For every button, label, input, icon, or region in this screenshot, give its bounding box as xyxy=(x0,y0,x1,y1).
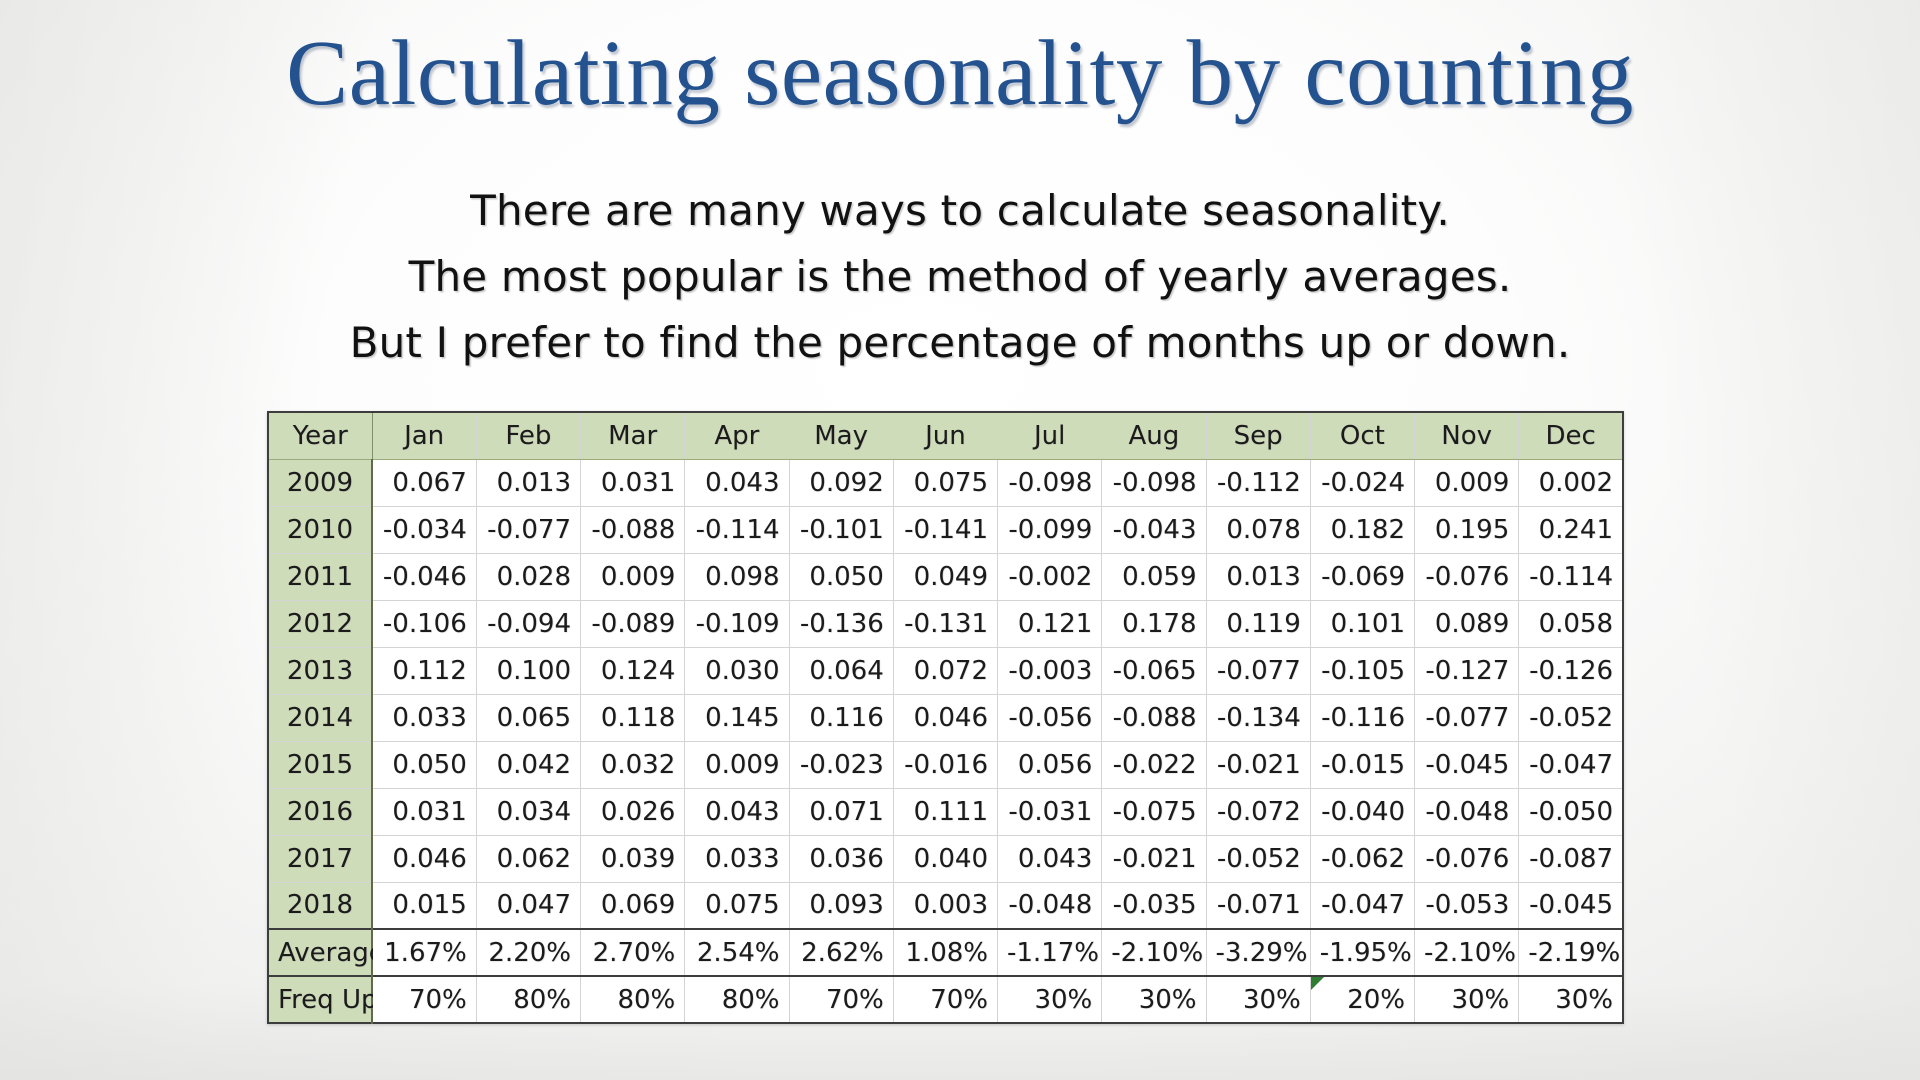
cell-2013-jul: -0.003 xyxy=(998,647,1102,694)
cell-2011-nov: -0.076 xyxy=(1415,553,1519,600)
cell-2014-may: 0.116 xyxy=(789,694,893,741)
cell-2009-nov: 0.009 xyxy=(1415,459,1519,506)
cell-2015-nov: -0.045 xyxy=(1415,741,1519,788)
cell-freq-up-jan: 70% xyxy=(372,976,476,1023)
cell-2018-aug: -0.035 xyxy=(1102,882,1206,929)
column-header-nov: Nov xyxy=(1415,412,1519,459)
cell-2015-mar: 0.032 xyxy=(581,741,685,788)
cell-freq-up-apr: 80% xyxy=(685,976,789,1023)
cell-2009-mar: 0.031 xyxy=(581,459,685,506)
cell-freq-up-jun: 70% xyxy=(893,976,997,1023)
cell-2012-aug: 0.178 xyxy=(1102,600,1206,647)
row-header-2012: 2012 xyxy=(268,600,372,647)
table-row: 2012-0.106-0.094-0.089-0.109-0.136-0.131… xyxy=(268,600,1623,647)
cell-2018-mar: 0.069 xyxy=(581,882,685,929)
cell-2012-mar: -0.089 xyxy=(581,600,685,647)
cell-2018-jun: 0.003 xyxy=(893,882,997,929)
cell-2017-sep: -0.052 xyxy=(1206,835,1310,882)
cell-2013-aug: -0.065 xyxy=(1102,647,1206,694)
cell-2016-dec: -0.050 xyxy=(1519,788,1623,835)
cell-2017-apr: 0.033 xyxy=(685,835,789,882)
cell-2015-aug: -0.022 xyxy=(1102,741,1206,788)
cell-freq-up-oct: 20% xyxy=(1310,976,1414,1023)
cell-2014-aug: -0.088 xyxy=(1102,694,1206,741)
cell-2012-nov: 0.089 xyxy=(1415,600,1519,647)
cell-freq-up-mar: 80% xyxy=(581,976,685,1023)
row-header-2010: 2010 xyxy=(268,506,372,553)
cell-average-aug: -2.10% xyxy=(1102,929,1206,976)
seasonality-table: Year Jan Feb Mar Apr May Jun Jul Aug Sep… xyxy=(267,411,1624,1024)
cell-2018-may: 0.093 xyxy=(789,882,893,929)
cell-2010-feb: -0.077 xyxy=(476,506,580,553)
cell-2011-mar: 0.009 xyxy=(581,553,685,600)
table-row: Average1.67%2.20%2.70%2.54%2.62%1.08%-1.… xyxy=(268,929,1623,976)
cell-2010-jan: -0.034 xyxy=(372,506,476,553)
cell-2015-jul: 0.056 xyxy=(998,741,1102,788)
seasonality-table-wrapper: Year Jan Feb Mar Apr May Jun Jul Aug Sep… xyxy=(267,411,1624,1024)
column-header-apr: Apr xyxy=(685,412,789,459)
cell-average-oct: -1.95% xyxy=(1310,929,1414,976)
column-header-feb: Feb xyxy=(476,412,580,459)
column-header-dec: Dec xyxy=(1519,412,1623,459)
cell-2018-dec: -0.045 xyxy=(1519,882,1623,929)
cell-2017-jul: 0.043 xyxy=(998,835,1102,882)
table-row: 20090.0670.0130.0310.0430.0920.075-0.098… xyxy=(268,459,1623,506)
cell-2018-jul: -0.048 xyxy=(998,882,1102,929)
table-header-row: Year Jan Feb Mar Apr May Jun Jul Aug Sep… xyxy=(268,412,1623,459)
cell-2012-may: -0.136 xyxy=(789,600,893,647)
cell-average-feb: 2.20% xyxy=(476,929,580,976)
cell-2015-apr: 0.009 xyxy=(685,741,789,788)
cell-average-jun: 1.08% xyxy=(893,929,997,976)
cell-2015-oct: -0.015 xyxy=(1310,741,1414,788)
column-header-jan: Jan xyxy=(372,412,476,459)
cell-2010-nov: 0.195 xyxy=(1415,506,1519,553)
row-header-2013: 2013 xyxy=(268,647,372,694)
cell-2012-jun: -0.131 xyxy=(893,600,997,647)
cell-2013-oct: -0.105 xyxy=(1310,647,1414,694)
cell-freq-up-jul: 30% xyxy=(998,976,1102,1023)
cell-2017-oct: -0.062 xyxy=(1310,835,1414,882)
cell-2012-dec: 0.058 xyxy=(1519,600,1623,647)
row-header-average: Average xyxy=(268,929,372,976)
cell-2014-feb: 0.065 xyxy=(476,694,580,741)
cell-average-sep: -3.29% xyxy=(1206,929,1310,976)
row-header-freq-up: Freq Up xyxy=(268,976,372,1023)
cell-average-apr: 2.54% xyxy=(685,929,789,976)
cell-2014-dec: -0.052 xyxy=(1519,694,1623,741)
cell-2015-sep: -0.021 xyxy=(1206,741,1310,788)
cell-2009-oct: -0.024 xyxy=(1310,459,1414,506)
page-title: Calculating seasonality by counting xyxy=(0,22,1920,126)
row-header-2016: 2016 xyxy=(268,788,372,835)
cell-2016-oct: -0.040 xyxy=(1310,788,1414,835)
cell-2014-mar: 0.118 xyxy=(581,694,685,741)
cell-2018-feb: 0.047 xyxy=(476,882,580,929)
cell-freq-up-nov: 30% xyxy=(1415,976,1519,1023)
cell-2012-oct: 0.101 xyxy=(1310,600,1414,647)
cell-2011-oct: -0.069 xyxy=(1310,553,1414,600)
cell-2013-jan: 0.112 xyxy=(372,647,476,694)
cell-2011-aug: 0.059 xyxy=(1102,553,1206,600)
cell-2011-feb: 0.028 xyxy=(476,553,580,600)
cell-2012-feb: -0.094 xyxy=(476,600,580,647)
cell-2009-may: 0.092 xyxy=(789,459,893,506)
cell-freq-up-aug: 30% xyxy=(1102,976,1206,1023)
cell-2017-may: 0.036 xyxy=(789,835,893,882)
cell-2016-aug: -0.075 xyxy=(1102,788,1206,835)
cell-2010-aug: -0.043 xyxy=(1102,506,1206,553)
table-row: 20150.0500.0420.0320.009-0.023-0.0160.05… xyxy=(268,741,1623,788)
cell-2014-jan: 0.033 xyxy=(372,694,476,741)
cell-2011-jun: 0.049 xyxy=(893,553,997,600)
column-header-may: May xyxy=(789,412,893,459)
table-row: 20130.1120.1000.1240.0300.0640.072-0.003… xyxy=(268,647,1623,694)
cell-2013-feb: 0.100 xyxy=(476,647,580,694)
subtitle-line-2: The most popular is the method of yearly… xyxy=(0,244,1920,310)
table-row: 20140.0330.0650.1180.1450.1160.046-0.056… xyxy=(268,694,1623,741)
cell-average-dec: -2.19% xyxy=(1519,929,1623,976)
column-header-aug: Aug xyxy=(1102,412,1206,459)
column-header-year: Year xyxy=(268,412,372,459)
table-body: 20090.0670.0130.0310.0430.0920.075-0.098… xyxy=(268,459,1623,1023)
cell-2011-may: 0.050 xyxy=(789,553,893,600)
cell-2016-may: 0.071 xyxy=(789,788,893,835)
cell-2012-jan: -0.106 xyxy=(372,600,476,647)
cell-2018-jan: 0.015 xyxy=(372,882,476,929)
cell-2017-mar: 0.039 xyxy=(581,835,685,882)
cell-2017-nov: -0.076 xyxy=(1415,835,1519,882)
cell-2014-sep: -0.134 xyxy=(1206,694,1310,741)
cell-freq-up-may: 70% xyxy=(789,976,893,1023)
subtitle-line-1: There are many ways to calculate seasona… xyxy=(0,178,1920,244)
cell-2012-jul: 0.121 xyxy=(998,600,1102,647)
cell-2010-sep: 0.078 xyxy=(1206,506,1310,553)
cell-2010-may: -0.101 xyxy=(789,506,893,553)
cell-average-jul: -1.17% xyxy=(998,929,1102,976)
cell-2016-feb: 0.034 xyxy=(476,788,580,835)
cell-2010-apr: -0.114 xyxy=(685,506,789,553)
column-header-sep: Sep xyxy=(1206,412,1310,459)
cell-2015-may: -0.023 xyxy=(789,741,893,788)
cell-2017-dec: -0.087 xyxy=(1519,835,1623,882)
cell-2009-jan: 0.067 xyxy=(372,459,476,506)
cell-2009-jun: 0.075 xyxy=(893,459,997,506)
cell-freq-up-sep: 30% xyxy=(1206,976,1310,1023)
cell-2010-jul: -0.099 xyxy=(998,506,1102,553)
table-header: Year Jan Feb Mar Apr May Jun Jul Aug Sep… xyxy=(268,412,1623,459)
column-header-jul: Jul xyxy=(998,412,1102,459)
cell-average-may: 2.62% xyxy=(789,929,893,976)
cell-2018-nov: -0.053 xyxy=(1415,882,1519,929)
slide-canvas: Calculating seasonality by counting Ther… xyxy=(0,0,1920,1080)
cell-2016-jun: 0.111 xyxy=(893,788,997,835)
cell-2017-aug: -0.021 xyxy=(1102,835,1206,882)
row-header-2009: 2009 xyxy=(268,459,372,506)
cell-average-jan: 1.67% xyxy=(372,929,476,976)
cell-2015-jan: 0.050 xyxy=(372,741,476,788)
row-header-2017: 2017 xyxy=(268,835,372,882)
cell-2016-jul: -0.031 xyxy=(998,788,1102,835)
column-header-mar: Mar xyxy=(581,412,685,459)
row-header-2015: 2015 xyxy=(268,741,372,788)
cell-2011-jan: -0.046 xyxy=(372,553,476,600)
cell-2016-sep: -0.072 xyxy=(1206,788,1310,835)
cell-2009-apr: 0.043 xyxy=(685,459,789,506)
cell-2016-apr: 0.043 xyxy=(685,788,789,835)
cell-2016-jan: 0.031 xyxy=(372,788,476,835)
row-header-2018: 2018 xyxy=(268,882,372,929)
cell-2015-dec: -0.047 xyxy=(1519,741,1623,788)
cell-2017-jan: 0.046 xyxy=(372,835,476,882)
table-row: 2010-0.034-0.077-0.088-0.114-0.101-0.141… xyxy=(268,506,1623,553)
cell-2017-jun: 0.040 xyxy=(893,835,997,882)
column-header-oct: Oct xyxy=(1310,412,1414,459)
cell-2011-sep: 0.013 xyxy=(1206,553,1310,600)
cell-average-nov: -2.10% xyxy=(1415,929,1519,976)
cell-2013-may: 0.064 xyxy=(789,647,893,694)
cell-2016-mar: 0.026 xyxy=(581,788,685,835)
column-header-jun: Jun xyxy=(893,412,997,459)
cell-freq-up-feb: 80% xyxy=(476,976,580,1023)
cell-freq-up-dec: 30% xyxy=(1519,976,1623,1023)
cell-2009-dec: 0.002 xyxy=(1519,459,1623,506)
cell-2014-jun: 0.046 xyxy=(893,694,997,741)
subtitle-line-3: But I prefer to find the percentage of m… xyxy=(0,310,1920,376)
cell-2013-apr: 0.030 xyxy=(685,647,789,694)
cell-2010-oct: 0.182 xyxy=(1310,506,1414,553)
cell-2011-jul: -0.002 xyxy=(998,553,1102,600)
comment-marker-icon xyxy=(1311,977,1324,990)
table-row: 20160.0310.0340.0260.0430.0710.111-0.031… xyxy=(268,788,1623,835)
cell-2013-mar: 0.124 xyxy=(581,647,685,694)
cell-2012-apr: -0.109 xyxy=(685,600,789,647)
subtitle-block: There are many ways to calculate seasona… xyxy=(0,178,1920,376)
cell-2014-oct: -0.116 xyxy=(1310,694,1414,741)
cell-2010-mar: -0.088 xyxy=(581,506,685,553)
cell-2009-jul: -0.098 xyxy=(998,459,1102,506)
cell-2010-dec: 0.241 xyxy=(1519,506,1623,553)
cell-2014-apr: 0.145 xyxy=(685,694,789,741)
cell-2009-aug: -0.098 xyxy=(1102,459,1206,506)
table-row: 2011-0.0460.0280.0090.0980.0500.049-0.00… xyxy=(268,553,1623,600)
cell-2013-dec: -0.126 xyxy=(1519,647,1623,694)
cell-2014-jul: -0.056 xyxy=(998,694,1102,741)
cell-2009-feb: 0.013 xyxy=(476,459,580,506)
cell-2015-feb: 0.042 xyxy=(476,741,580,788)
cell-2013-nov: -0.127 xyxy=(1415,647,1519,694)
cell-2018-apr: 0.075 xyxy=(685,882,789,929)
cell-2016-nov: -0.048 xyxy=(1415,788,1519,835)
cell-2010-jun: -0.141 xyxy=(893,506,997,553)
cell-2012-sep: 0.119 xyxy=(1206,600,1310,647)
row-header-2014: 2014 xyxy=(268,694,372,741)
cell-2009-sep: -0.112 xyxy=(1206,459,1310,506)
cell-2013-sep: -0.077 xyxy=(1206,647,1310,694)
cell-2015-jun: -0.016 xyxy=(893,741,997,788)
cell-2013-jun: 0.072 xyxy=(893,647,997,694)
table-row: Freq Up70%80%80%80%70%70%30%30%30%20%30%… xyxy=(268,976,1623,1023)
cell-2014-nov: -0.077 xyxy=(1415,694,1519,741)
cell-2018-oct: -0.047 xyxy=(1310,882,1414,929)
cell-2011-dec: -0.114 xyxy=(1519,553,1623,600)
table-row: 20180.0150.0470.0690.0750.0930.003-0.048… xyxy=(268,882,1623,929)
cell-average-mar: 2.70% xyxy=(581,929,685,976)
table-row: 20170.0460.0620.0390.0330.0360.0400.043-… xyxy=(268,835,1623,882)
cell-2017-feb: 0.062 xyxy=(476,835,580,882)
cell-2011-apr: 0.098 xyxy=(685,553,789,600)
cell-2018-sep: -0.071 xyxy=(1206,882,1310,929)
row-header-2011: 2011 xyxy=(268,553,372,600)
